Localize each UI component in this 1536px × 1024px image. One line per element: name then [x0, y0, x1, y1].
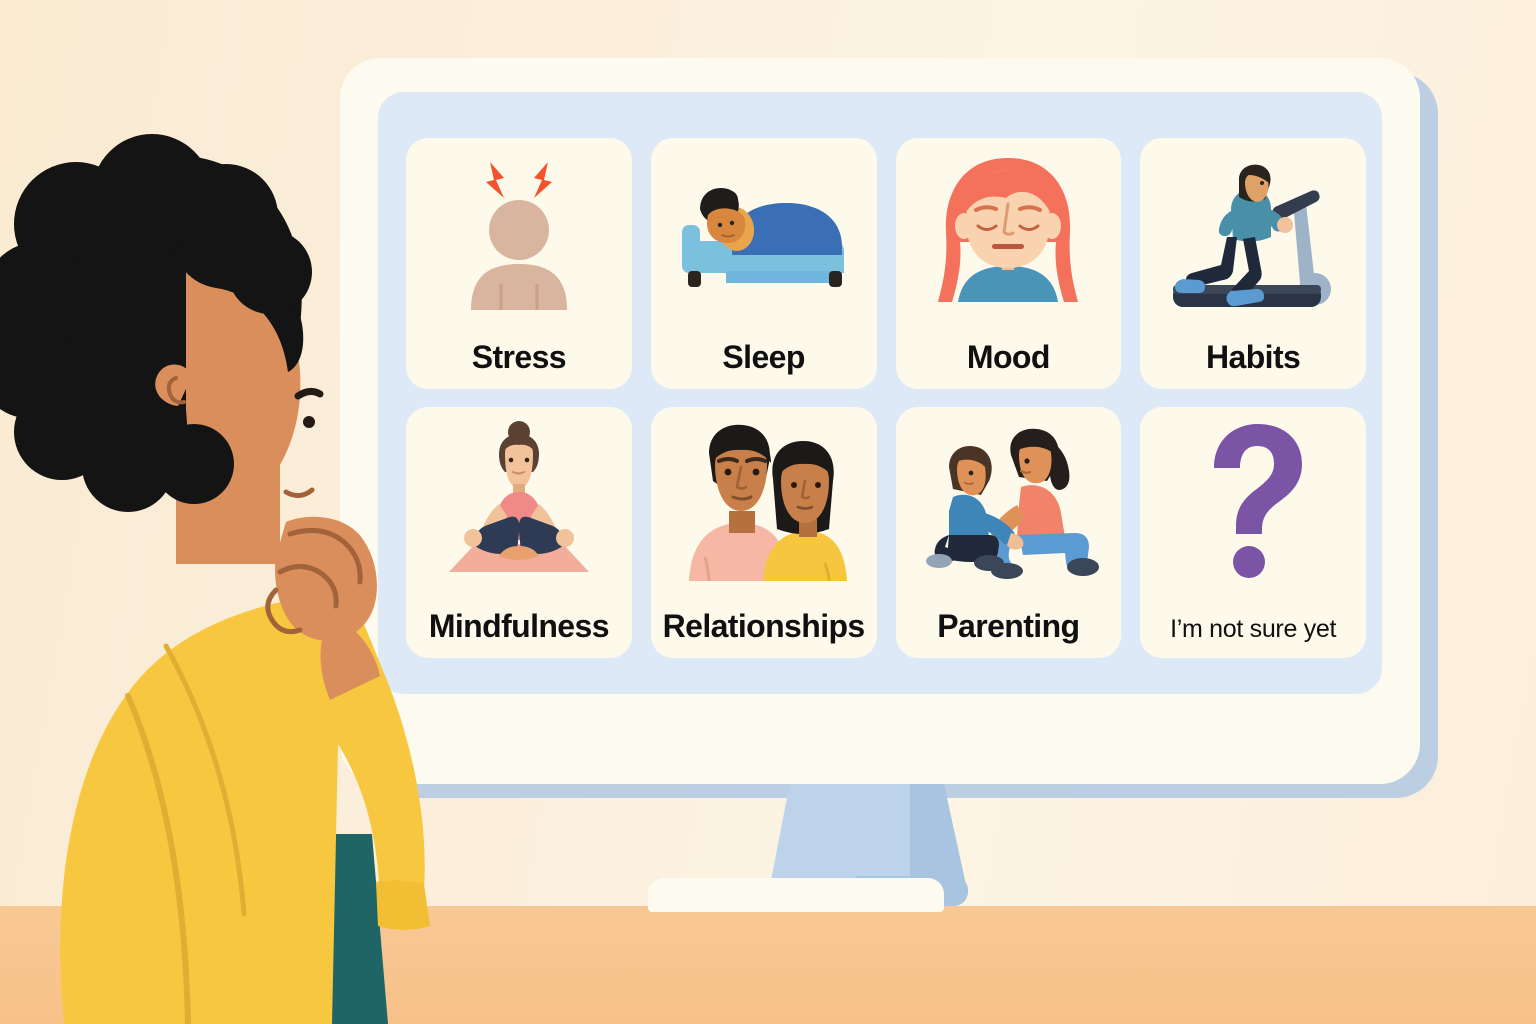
monitor-stand-neck-highlight	[770, 784, 910, 886]
couple-portrait-icon	[651, 415, 877, 587]
person-sleeping-in-bed-icon	[651, 146, 877, 318]
sad-face-portrait-icon	[896, 146, 1122, 318]
topic-card-not-sure-yet[interactable]: I’m not sure yet	[1140, 407, 1366, 658]
person-figure	[0, 120, 500, 1024]
topic-card-label: Relationships	[663, 610, 865, 642]
question-mark-icon	[1140, 415, 1366, 587]
topic-card-grid: Stress	[406, 138, 1366, 658]
topic-card-label: I’m not sure yet	[1170, 617, 1336, 642]
topic-card-label: Mood	[967, 341, 1050, 373]
topic-card-label: Parenting	[937, 610, 1079, 642]
topic-card-parenting[interactable]: Parenting	[896, 407, 1122, 658]
topic-card-habits[interactable]: Habits	[1140, 138, 1366, 389]
topic-card-relationships[interactable]: Relationships	[651, 407, 877, 658]
illustration-scene: Stress	[0, 0, 1536, 1024]
person-running-treadmill-icon	[1140, 146, 1366, 318]
parent-and-child-icon	[896, 415, 1122, 587]
topic-card-label: Habits	[1206, 341, 1300, 373]
topic-card-sleep[interactable]: Sleep	[651, 138, 877, 389]
topic-card-mood[interactable]: Mood	[896, 138, 1122, 389]
topic-card-label: Sleep	[722, 341, 804, 373]
monitor-stand-base	[648, 878, 944, 912]
